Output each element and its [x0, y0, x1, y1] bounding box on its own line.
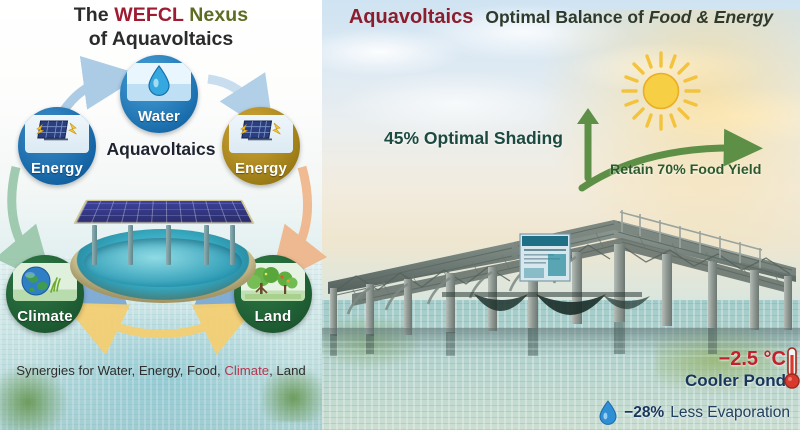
solar-panel-array-icon — [73, 200, 254, 224]
title-word-wefcl: WEFCL — [114, 4, 183, 26]
water-droplet-icon — [598, 400, 618, 426]
panel-support-leg — [230, 225, 235, 265]
nexus-title: The WEFCL Nexus of Aquavoltaics — [0, 4, 322, 52]
panel-support-leg — [166, 225, 171, 265]
up-arrow-icon — [574, 104, 602, 184]
nexus-diagram: Aquavoltaics Water — [0, 55, 322, 355]
panel-header: Aquavoltaics Optimal Balance of Food & E… — [322, 2, 800, 32]
nexus-node-water[interactable]: Water — [120, 55, 198, 133]
annotation-food-yield: Retain 70% Food Yield — [610, 162, 761, 178]
evaporation-label: Less Evaporation — [670, 404, 790, 422]
annotation-cooler-pond: −2.5 °C Cooler Pond — [685, 348, 786, 391]
title-word-the: The — [74, 4, 115, 26]
pond-basin — [70, 229, 256, 303]
caption-part-3: , Land — [269, 363, 306, 378]
title-word-nexus: Nexus — [184, 4, 249, 26]
node-label: Land — [255, 308, 292, 325]
header-subtitle: Optimal Balance of Food & Energy — [485, 7, 773, 28]
center-aquavoltaics-illustration — [62, 175, 262, 305]
title-line-two: of Aquavoltaics — [0, 28, 322, 52]
thermometer-icon — [782, 346, 800, 392]
header-subtitle-italic: Food & Energy — [649, 7, 773, 27]
header-subtitle-plain: Optimal Balance of — [485, 7, 648, 27]
caption-part-1: Synergies for Water, Energy, Food, — [16, 363, 224, 378]
panel-support-leg — [92, 225, 97, 265]
aquavoltaics-photo-panel: Aquavoltaics Optimal Balance of Food & E… — [322, 0, 800, 430]
sun-icon — [618, 48, 704, 134]
header-title: Aquavoltaics — [349, 6, 473, 29]
temp-delta-value: −2.5 °C — [685, 348, 786, 371]
temp-delta-label: Cooler Pond — [685, 371, 786, 391]
node-label: Water — [138, 108, 180, 125]
node-label: Climate — [17, 308, 73, 325]
wefcl-nexus-panel: The WEFCL Nexus of Aquavoltaics — [0, 0, 322, 430]
solar-canopy-photo — [322, 176, 800, 361]
annotation-less-evaporation: −28% Less Evaporation — [598, 400, 790, 426]
center-label-aquavoltaics: Aquavoltaics — [107, 139, 216, 159]
nexus-caption: Synergies for Water, Energy, Food, Clima… — [0, 363, 322, 378]
evaporation-value: −28% — [624, 404, 664, 422]
curved-up-arrow-icon — [574, 128, 764, 194]
annotation-optimal-shading: 45% Optimal Shading — [384, 128, 563, 149]
water-drop-icon — [127, 63, 191, 101]
caption-part-climate: Climate — [224, 363, 269, 378]
panel-support-leg — [204, 225, 209, 265]
panel-support-leg — [128, 225, 133, 265]
infographic-canvas: The WEFCL Nexus of Aquavoltaics — [0, 0, 800, 430]
